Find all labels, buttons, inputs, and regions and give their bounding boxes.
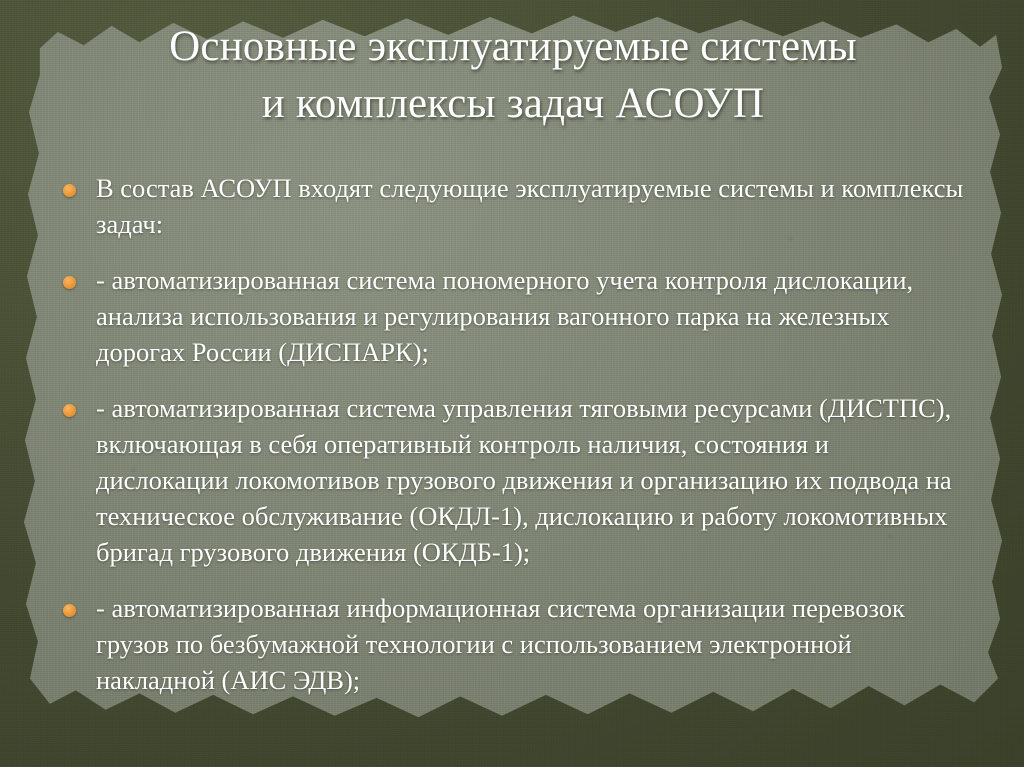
slide-content: Основные эксплуатируемые системы и компл…	[0, 0, 1024, 767]
bullet-list: В состав АСОУП входят следующие эксплуат…	[56, 170, 964, 698]
bullet-dot-icon	[63, 276, 76, 289]
list-item: - автоматизированная система пономерного…	[56, 262, 964, 370]
slide-title: Основные эксплуатируемые системы и компл…	[58, 18, 968, 132]
list-item: - автоматизированная информационная сист…	[56, 590, 964, 698]
list-item-text: - автоматизированная система управления …	[96, 393, 952, 567]
slide-title-line-2: и комплексы задач АСОУП	[58, 75, 968, 132]
bullet-dot-icon	[63, 184, 76, 197]
list-item-text: В состав АСОУП входят следующие эксплуат…	[96, 173, 963, 239]
slide-title-line-1: Основные эксплуатируемые системы	[58, 18, 968, 75]
bullet-dot-icon	[63, 604, 76, 617]
list-item: - автоматизированная система управления …	[56, 390, 964, 570]
list-item: В состав АСОУП входят следующие эксплуат…	[56, 170, 964, 242]
list-item-text: - автоматизированная информационная сист…	[96, 593, 905, 695]
list-item-text: - автоматизированная система пономерного…	[96, 265, 913, 367]
presentation-slide: Основные эксплуатируемые системы и компл…	[0, 0, 1024, 767]
bullet-dot-icon	[63, 404, 76, 417]
